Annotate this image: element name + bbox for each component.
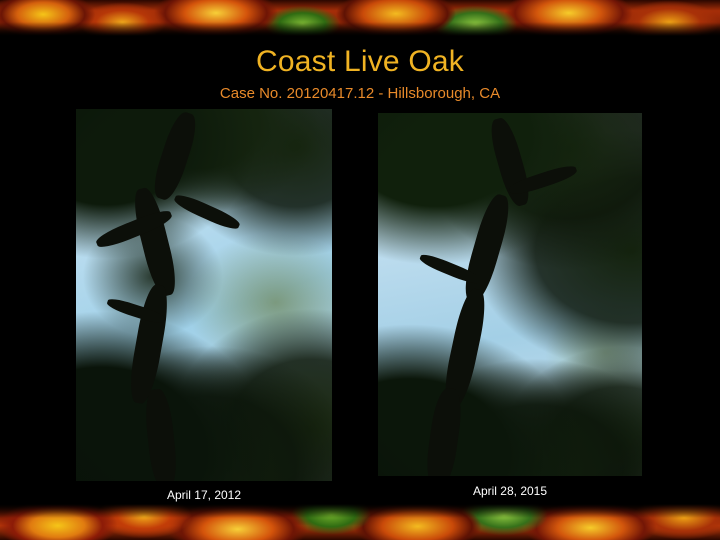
flame-fade-bottom (0, 504, 720, 518)
before-photo-caption: April 17, 2012 (76, 488, 332, 502)
flame-fade-top (0, 22, 720, 36)
flame-border-top (0, 0, 720, 36)
before-photo (76, 109, 332, 481)
slide: Coast Live Oak Case No. 20120417.12 - Hi… (0, 0, 720, 540)
after-photo-caption: April 28, 2015 (378, 484, 642, 498)
page-subtitle: Case No. 20120417.12 - Hillsborough, CA (0, 85, 720, 102)
flame-border-bottom (0, 504, 720, 540)
photo-vignette (378, 113, 642, 476)
photo-vignette (76, 109, 332, 481)
after-photo (378, 113, 642, 476)
page-title: Coast Live Oak (0, 45, 720, 79)
